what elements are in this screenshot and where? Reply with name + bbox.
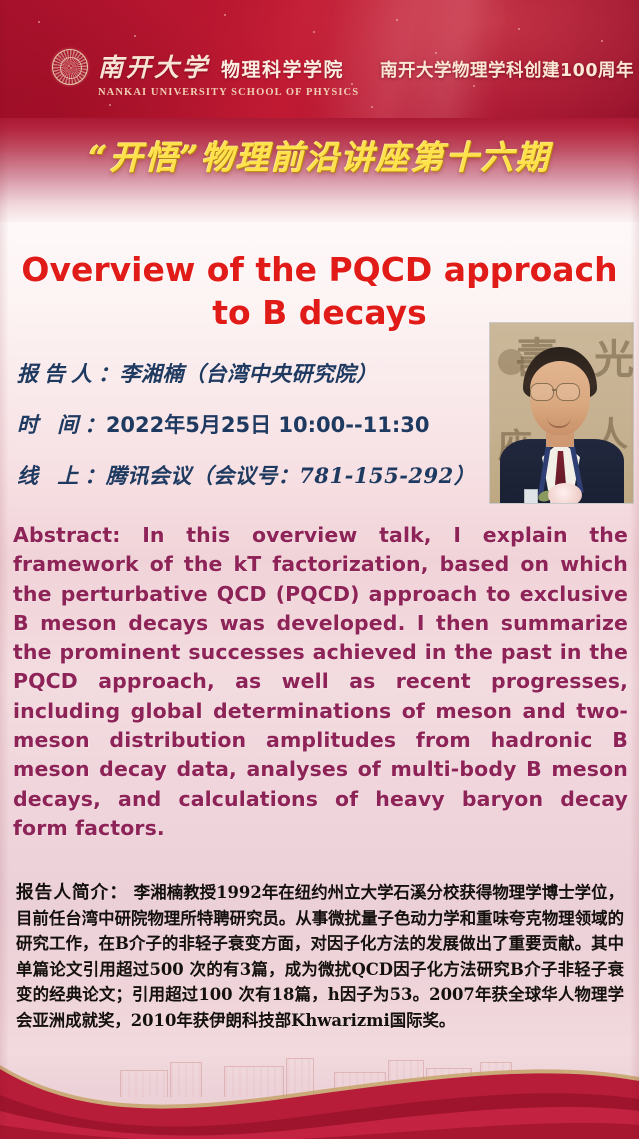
university-name-cn: 南开大学 <box>98 48 210 84</box>
logo-text-block: 南开大学 物理科学学院 NANKAI UNIVERSITY SCHOOL OF … <box>98 48 359 98</box>
right-edge-shade <box>630 0 639 1139</box>
detail-sep-online: ： <box>84 463 106 488</box>
portrait-glasses-bridge <box>552 389 557 391</box>
biography-text: 李湘楠教授1992年在纽约州立大学石溪分校获得物理学博士学位，目前任台湾中研院物… <box>16 883 624 1030</box>
lecture-series-title: “开悟”物理前沿讲座第十六期 <box>0 131 639 179</box>
seminar-poster: 南开大学 物理科学学院 NANKAI UNIVERSITY SCHOOL OF … <box>0 0 639 1139</box>
event-details: 报告人：李湘楠（台湾中央研究院） 时 间：2022年5月25日 10:00--1… <box>17 358 487 511</box>
backdrop-dot <box>498 349 524 375</box>
portrait-corsage-flower <box>548 483 582 504</box>
backdrop-char-2: 光 <box>594 327 634 385</box>
portrait-glasses-right <box>556 383 580 401</box>
detail-row-online: 线 上：腾讯会议（会议号：781-155-292） <box>17 460 487 490</box>
detail-value-speaker: 李湘楠（台湾中央研究院） <box>120 361 378 386</box>
biography-label: 报告人简介： <box>16 882 128 903</box>
detail-row-speaker: 报告人：李湘楠（台湾中央研究院） <box>17 358 487 388</box>
detail-label-time: 时 间 <box>17 412 84 437</box>
university-seal-icon <box>52 49 88 85</box>
portrait-glasses-left <box>530 383 554 401</box>
detail-sep-time: ： <box>84 412 106 437</box>
ribbon-waves <box>0 1055 639 1139</box>
detail-label-online: 线 上 <box>17 463 84 488</box>
portrait-badge <box>524 489 538 504</box>
detail-label-speaker: 报告人 <box>17 361 98 386</box>
university-name-en: NANKAI UNIVERSITY SCHOOL OF PHYSICS <box>98 87 359 98</box>
school-name-cn: 物理科学学院 <box>221 55 344 82</box>
talk-title-line-1: Overview of the PQCD approach <box>8 248 631 291</box>
anniversary-text: 南开大学物理学科创建100周年 <box>380 57 634 82</box>
speaker-photo: 壽 光 座 人 Nat <box>489 322 634 504</box>
detail-value-time: 2022年5月25日 10:00--11:30 <box>106 413 430 437</box>
abstract-text: Abstract: In this overview talk, I expla… <box>13 521 628 843</box>
detail-row-time: 时 间：2022年5月25日 10:00--11:30 <box>17 409 487 439</box>
detail-sep-speaker: ： <box>98 361 120 386</box>
speaker-biography: 报告人简介： 李湘楠教授1992年在纽约州立大学石溪分校获得物理学博士学位，目前… <box>16 880 624 1034</box>
logo-chinese-line: 南开大学 物理科学学院 <box>98 48 359 84</box>
left-edge-shade <box>0 0 9 1139</box>
detail-value-online: 腾讯会议（会议号：781-155-292） <box>106 463 475 488</box>
university-logo: 南开大学 物理科学学院 NANKAI UNIVERSITY SCHOOL OF … <box>52 48 359 98</box>
footer-ribbon <box>0 1055 639 1139</box>
